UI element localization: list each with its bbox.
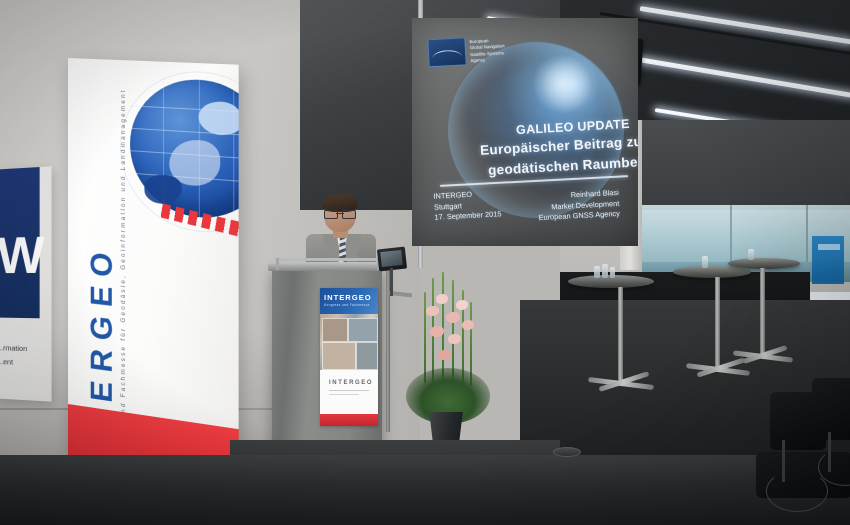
gsa-logo-mark [427,37,466,67]
lectern-rail [276,258,380,261]
slide-meta-left: INTERGEO Stuttgart 17. September 2015 [433,188,502,223]
poster-photo [356,342,378,370]
glass-mullion [730,205,732,265]
lectern-rail-post-left [276,258,279,270]
slide-meta-right: Reinhard Blasi Market Development Europe… [537,188,620,224]
lectern-poster: INTERGEO Kongress und Fachmesse INTERGEO [320,288,378,426]
side-banner: W ...rmation ...ent [0,166,52,401]
poster-text-line [329,390,369,391]
chair-leg [782,440,785,482]
poster-subtitle: Kongress und Fachmesse [324,303,370,307]
floor-foreground [0,455,850,525]
poster-red-band [320,414,378,426]
globe-longitude-line [233,81,234,220]
chair [812,378,850,440]
poster-text-line [329,394,359,395]
gsa-logo: European Global Navigation Satellite Sys… [427,32,517,71]
poster-white-area [320,370,378,414]
photo-scene: European Global Navigation Satellite Sys… [0,0,850,525]
intergeo-rollup-banner: INTERGEO Kongress und Fachmesse für Geod… [68,58,239,520]
glass-mullion [806,205,808,265]
poster-wordmark: INTERGEO [329,380,373,386]
poster-photo [322,342,356,370]
flower-arrangement [404,272,492,452]
poster-photo [348,318,378,342]
chair-leg [828,432,831,472]
poster-photo [322,318,348,342]
side-banner-mark: W [0,230,41,283]
side-banner-text-1: ...rmation [0,343,27,353]
right-upper-wall [620,120,850,210]
slide-meta-date: 17. September 2015 [434,209,501,223]
gsa-logo-text: European Global Navigation Satellite Sys… [469,37,505,63]
background-poster-stripe [818,244,840,250]
monitor-stand [390,268,393,296]
chair-frame [766,470,828,512]
projection-screen: European Global Navigation Satellite Sys… [412,18,638,246]
side-banner-text-2: ...ent [0,357,13,367]
lectern-top-surface [268,262,388,271]
floor-socket-cover [553,447,581,457]
gsa-line-4: Agency [470,56,505,63]
sun-glare [532,54,592,114]
monitor-screen [380,250,402,267]
glasses-bridge [336,213,344,214]
poster-logo: INTERGEO [324,293,372,302]
